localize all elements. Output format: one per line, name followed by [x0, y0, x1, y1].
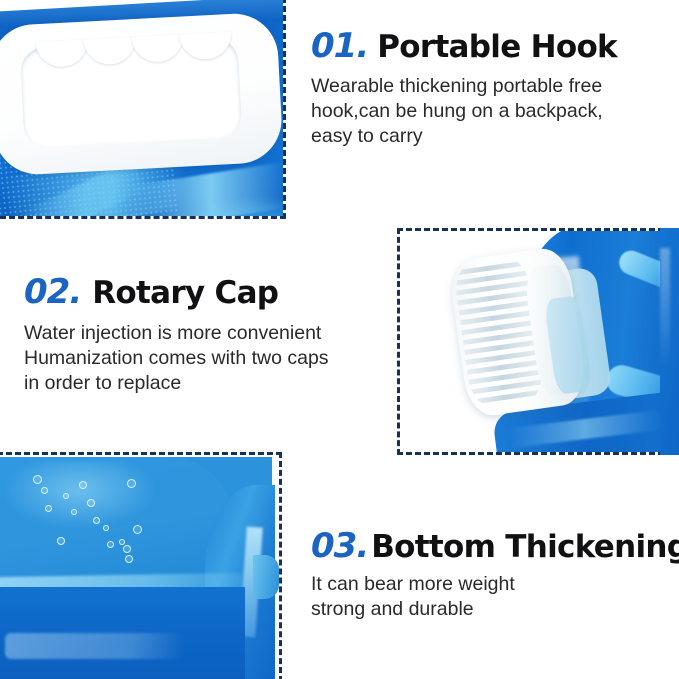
- bag-bleed-right-edge: [660, 228, 679, 455]
- bag-corner-tip: [253, 555, 279, 599]
- product-feature-infographic: 01. Portable Hook Wearable thickening po…: [0, 0, 679, 679]
- feature-title: Rotary Cap: [92, 275, 278, 311]
- feature-block-bottom-thickening: 03. Bottom Thickening It can bear more w…: [311, 526, 679, 622]
- feature-headline: 03. Bottom Thickening: [311, 526, 679, 566]
- photo-panel-rotary-cap: [397, 228, 679, 455]
- feature-description: It can bear more weight strong and durab…: [311, 572, 679, 622]
- bag-bleed-gloss: [660, 248, 670, 368]
- feature-block-rotary-cap: 02. Rotary Cap Water injection is more c…: [24, 272, 329, 396]
- photo-panel-bottom-thickening: [0, 452, 282, 679]
- feature-description: Wearable thickening portable free hook,c…: [311, 74, 617, 149]
- feature-number: 01.: [311, 26, 368, 66]
- feature-headline: 01. Portable Hook: [311, 26, 617, 66]
- bag-embossed-text-area: [5, 633, 185, 659]
- feature-title: Bottom Thickening: [371, 529, 679, 565]
- feature-description: Water injection is more convenient Human…: [24, 321, 329, 396]
- feature-block-portable-hook: 01. Portable Hook Wearable thickening po…: [311, 26, 617, 149]
- feature-headline: 02. Rotary Cap: [24, 272, 329, 312]
- feature-number: 02.: [24, 272, 81, 312]
- feature-number: 03.: [311, 526, 368, 566]
- feature-title: Portable Hook: [377, 29, 617, 65]
- photo-panel-portable-hook: [0, 0, 286, 219]
